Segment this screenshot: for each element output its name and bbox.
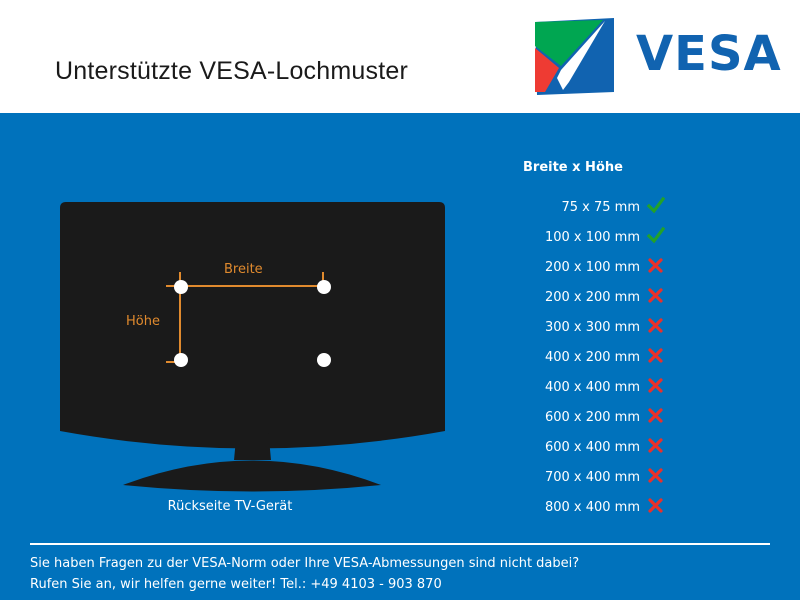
table-row: 400 x 200 mm <box>495 347 695 377</box>
pattern-size-label: 600 x 200 mm <box>545 410 640 425</box>
page-title: Unterstützte VESA-Lochmuster <box>55 57 408 86</box>
footer-divider <box>30 543 770 545</box>
tv-base <box>123 461 381 492</box>
cross-icon <box>645 465 667 487</box>
cross-icon <box>645 495 667 517</box>
pattern-size-label: 400 x 200 mm <box>545 350 640 365</box>
check-icon <box>645 195 667 217</box>
pattern-size-label: 75 x 75 mm <box>561 200 640 215</box>
table-row: 75 x 75 mm <box>495 197 695 227</box>
pattern-size-label: 300 x 300 mm <box>545 320 640 335</box>
mount-hole-top-left <box>174 280 188 294</box>
mount-hole-top-right <box>317 280 331 294</box>
vesa-logo-mark-icon <box>533 18 616 96</box>
mount-hole-bottom-left <box>174 353 188 367</box>
cross-icon <box>645 375 667 397</box>
vesa-info-page: Unterstützte VESA-Lochmuster VESA <box>0 0 800 600</box>
footer-contact-text: Sie haben Fragen zu der VESA-Norm oder I… <box>30 553 775 595</box>
vesa-wordmark: VESA <box>636 25 782 83</box>
cross-icon <box>645 435 667 457</box>
cross-icon <box>645 315 667 337</box>
width-dimension-label: Breite <box>224 262 263 277</box>
table-row: 600 x 400 mm <box>495 437 695 467</box>
footer-line-2: Rufen Sie an, wir helfen gerne weiter! T… <box>30 574 775 595</box>
pattern-size-label: 600 x 400 mm <box>545 440 640 455</box>
table-row: 700 x 400 mm <box>495 467 695 497</box>
table-row: 100 x 100 mm <box>495 227 695 257</box>
height-dimension-label: Höhe <box>126 314 160 329</box>
page-header: Unterstützte VESA-Lochmuster VESA <box>0 0 800 113</box>
table-rows: 75 x 75 mm100 x 100 mm200 x 100 mm200 x … <box>495 197 695 527</box>
pattern-size-label: 800 x 400 mm <box>545 500 640 515</box>
cross-icon <box>645 255 667 277</box>
cross-icon <box>645 285 667 307</box>
pattern-size-label: 700 x 400 mm <box>545 470 640 485</box>
table-row: 200 x 100 mm <box>495 257 695 287</box>
pattern-size-label: 100 x 100 mm <box>545 230 640 245</box>
vesa-logo: VESA <box>533 18 783 96</box>
tv-graphic <box>40 190 460 500</box>
tv-caption: Rückseite TV-Gerät <box>0 499 460 514</box>
tv-rear-diagram <box>40 190 460 500</box>
table-row: 800 x 400 mm <box>495 497 695 527</box>
footer-line-1: Sie haben Fragen zu der VESA-Norm oder I… <box>30 553 775 574</box>
pattern-size-label: 400 x 400 mm <box>545 380 640 395</box>
table-row: 600 x 200 mm <box>495 407 695 437</box>
pattern-size-label: 200 x 100 mm <box>545 260 640 275</box>
tv-neck <box>234 428 271 460</box>
mount-hole-bottom-right <box>317 353 331 367</box>
table-row: 300 x 300 mm <box>495 317 695 347</box>
table-row: 400 x 400 mm <box>495 377 695 407</box>
check-icon <box>645 225 667 247</box>
table-row: 200 x 200 mm <box>495 287 695 317</box>
cross-icon <box>645 405 667 427</box>
table-column-header: Breite x Höhe <box>523 160 623 175</box>
tv-body <box>60 202 445 449</box>
cross-icon <box>645 345 667 367</box>
pattern-size-label: 200 x 200 mm <box>545 290 640 305</box>
